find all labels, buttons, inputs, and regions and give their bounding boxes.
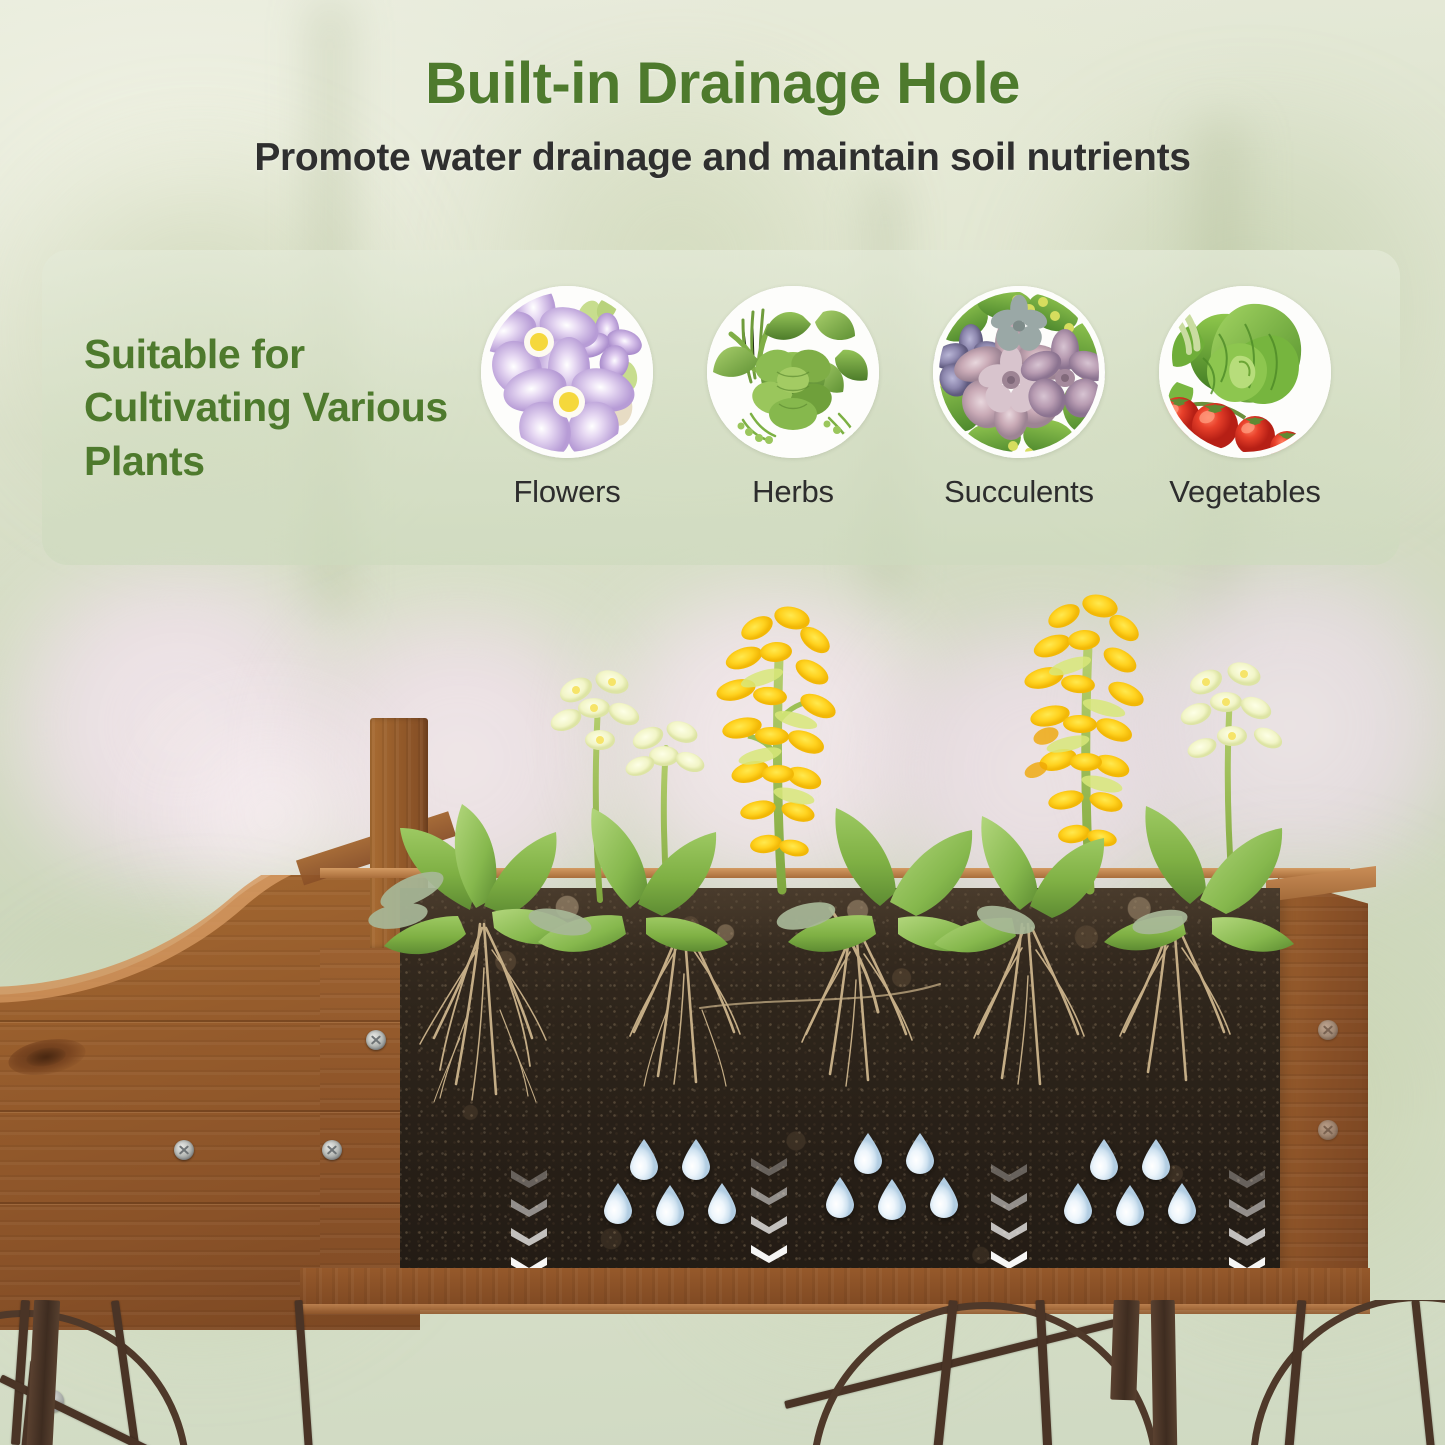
lettuce-tomato-icon xyxy=(1159,286,1331,458)
succulent-rosettes-icon xyxy=(933,286,1105,458)
down-chevron-icon xyxy=(508,1168,550,1188)
water-droplet-icon xyxy=(654,1184,686,1226)
down-chevron-icon xyxy=(748,1214,790,1234)
water-droplet-icon xyxy=(904,1132,936,1174)
screw-head xyxy=(1318,1120,1338,1140)
water-droplet-icon xyxy=(1166,1182,1198,1224)
drainage-flow-arrows xyxy=(508,1168,550,1284)
down-chevron-icon xyxy=(1226,1197,1268,1217)
rail-top-highlight xyxy=(320,868,1350,878)
down-chevron-icon xyxy=(1226,1226,1268,1246)
water-droplet-icon xyxy=(602,1182,634,1224)
plant-category-herbs[interactable]: Herbs xyxy=(698,286,888,510)
down-chevron-icon xyxy=(508,1226,550,1246)
panel-title: Suitable for Cultivating Various Plants xyxy=(42,250,472,488)
water-droplet-icon xyxy=(1114,1184,1146,1226)
down-chevron-icon xyxy=(988,1249,1030,1269)
freesia-flowers-icon xyxy=(481,286,653,458)
drainage-flow-arrows xyxy=(748,1156,790,1272)
drainage-flow-arrows xyxy=(988,1162,1030,1278)
planter-right-end xyxy=(1278,878,1368,1303)
down-chevron-icon xyxy=(988,1162,1030,1182)
category-label: Succulents xyxy=(944,474,1094,510)
water-droplet-icon xyxy=(852,1132,884,1174)
page-subtitle: Promote water drainage and maintain soil… xyxy=(0,136,1445,180)
water-droplet-icon xyxy=(928,1176,960,1218)
down-chevron-icon xyxy=(988,1220,1030,1240)
cart-leg xyxy=(1110,1300,1139,1400)
wheel-spoke xyxy=(294,1300,313,1445)
water-droplet-icon xyxy=(876,1178,908,1220)
category-label: Herbs xyxy=(752,474,834,510)
down-chevron-icon xyxy=(748,1156,790,1176)
page-title: Built-in Drainage Hole xyxy=(0,54,1445,115)
plank-seam xyxy=(0,1202,400,1204)
water-droplet-icon xyxy=(680,1138,712,1180)
category-label: Flowers xyxy=(513,474,620,510)
herb-leaves-icon xyxy=(707,286,879,458)
wooden-planter-box xyxy=(0,690,1445,1330)
plant-category-list: Flowers xyxy=(472,250,1400,510)
water-droplet-icon xyxy=(1088,1138,1120,1180)
plant-category-vegetables[interactable]: Vegetables xyxy=(1150,286,1340,510)
screw-head xyxy=(1318,1020,1338,1040)
plank-seam xyxy=(0,1020,400,1022)
cart-leg xyxy=(1151,1300,1178,1445)
water-droplet-icon xyxy=(628,1138,660,1180)
water-droplet-icon xyxy=(706,1182,738,1224)
down-chevron-icon xyxy=(988,1191,1030,1211)
water-droplet-icon xyxy=(824,1176,856,1218)
down-chevron-icon xyxy=(1226,1168,1268,1188)
soil-cross-section xyxy=(400,888,1280,1296)
water-droplet-icon xyxy=(1062,1182,1094,1224)
plank-seam xyxy=(0,1110,400,1112)
category-label: Vegetables xyxy=(1169,474,1320,510)
screw-head xyxy=(174,1140,194,1160)
headline-block: Built-in Drainage Hole Promote water dra… xyxy=(0,54,1445,180)
screw-head xyxy=(366,1030,386,1050)
down-chevron-icon xyxy=(748,1243,790,1263)
down-chevron-icon xyxy=(508,1197,550,1217)
plant-category-succulents[interactable]: Succulents xyxy=(924,286,1114,510)
drainage-flow-arrows xyxy=(1226,1168,1268,1284)
suitable-plants-panel: Suitable for Cultivating Various Plants xyxy=(42,250,1400,565)
down-chevron-icon xyxy=(748,1185,790,1205)
screw-head xyxy=(322,1140,342,1160)
cart-wheel-base xyxy=(0,1300,1445,1445)
water-droplet-icon xyxy=(1140,1138,1172,1180)
plant-category-flowers[interactable]: Flowers xyxy=(472,286,662,510)
